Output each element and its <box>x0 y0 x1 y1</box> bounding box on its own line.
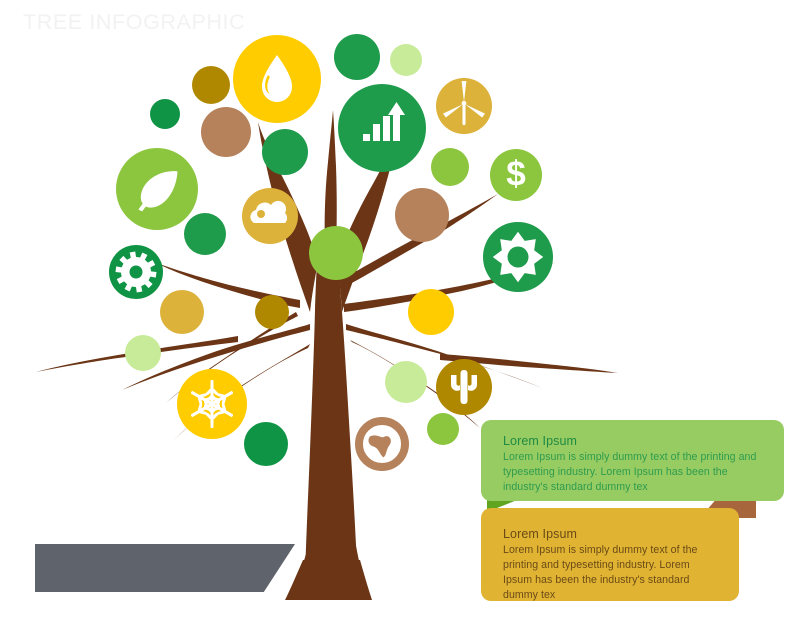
svg-text:$: $ <box>506 154 526 193</box>
sun-node[interactable] <box>483 222 553 292</box>
cloud-node[interactable] <box>242 188 298 244</box>
decor-circle-pale-right <box>385 361 427 403</box>
title-banner <box>35 544 295 592</box>
decor-circle-pale-top <box>390 44 422 76</box>
decor-circle-lime-center <box>309 226 363 280</box>
gear-node[interactable] <box>109 245 163 299</box>
decor-circle-gold-left <box>160 290 204 334</box>
decor-circle-brown <box>201 107 251 157</box>
callout-green[interactable]: Lorem Ipsum Lorem Ipsum is simply dummy … <box>481 420 784 501</box>
decor-circle-green-left <box>184 213 226 255</box>
decor-circle-green-lime <box>431 148 469 186</box>
growth-chart-node[interactable] <box>338 84 426 172</box>
tree-trunk-base <box>285 560 372 600</box>
leaf-node[interactable] <box>116 148 198 230</box>
cactus-node[interactable] <box>436 359 492 415</box>
dollar-icon: $ <box>506 154 526 193</box>
callout-gold-body: Lorem Ipsum is simply dummy text of the … <box>503 543 717 603</box>
decor-circle-yellow-r <box>408 289 454 335</box>
decor-circle-green-small <box>150 99 180 129</box>
decor-circle-gold-dark <box>192 66 230 104</box>
decor-circle-gold-sm <box>255 295 289 329</box>
snowflake-node[interactable] <box>177 369 247 439</box>
water-drop-node[interactable] <box>233 35 321 123</box>
decor-circle-brown-right <box>395 188 449 242</box>
globe-icon <box>365 427 398 460</box>
wind-turbine-node[interactable] <box>436 78 492 134</box>
callout-gold-title: Lorem Ipsum <box>503 526 717 542</box>
sun-icon <box>493 232 543 282</box>
decor-circle-pale-left <box>125 335 161 371</box>
dollar-node[interactable]: $ <box>490 149 542 201</box>
tree-trunk <box>305 248 358 592</box>
decor-circle-green-top <box>334 34 380 80</box>
page-title: TREE INFOGRAPHIC <box>23 10 245 35</box>
decor-circle-green-mid <box>262 129 308 175</box>
decor-circle-lime-low <box>427 413 459 445</box>
globe-node[interactable] <box>355 417 409 471</box>
growth-chart-node-disc <box>338 84 426 172</box>
callout-green-body: Lorem Ipsum is simply dummy text of the … <box>503 450 762 495</box>
decor-circle-green-low <box>244 422 288 466</box>
infographic-canvas: $ Lorem Ipsum Lorem Ipsum is simply dumm… <box>0 0 800 623</box>
callout-green-title: Lorem Ipsum <box>503 433 762 449</box>
callout-gold[interactable]: Lorem Ipsum Lorem Ipsum is simply dummy … <box>481 508 739 601</box>
